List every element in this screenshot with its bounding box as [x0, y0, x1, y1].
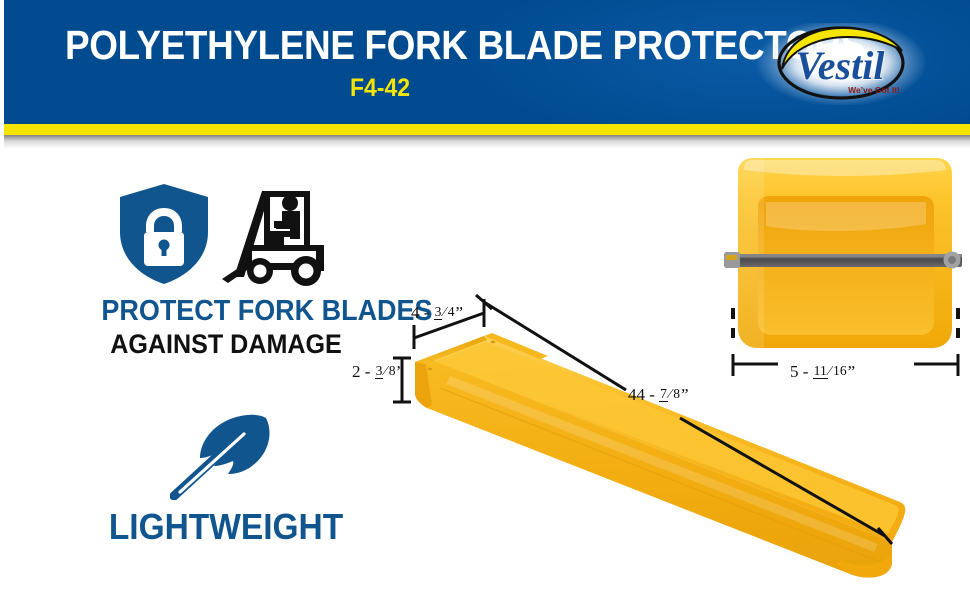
feather-icon-group — [92, 408, 360, 506]
feature-lightweight-label: LIGHTWEIGHT — [101, 506, 350, 548]
dimension-label-height: 2 - 3⁄8” — [352, 362, 404, 382]
dimension-label-width: 4 - 3⁄4” — [411, 303, 463, 323]
forklift-icon — [222, 187, 334, 289]
feature-protect-fork-blades: PROTECT FORK BLADES AGAINST DAMAGE — [92, 182, 360, 360]
feature-protect-line2: AGAINST DAMAGE — [101, 328, 350, 360]
protect-icon-group — [92, 182, 360, 294]
feature-lightweight: LIGHTWEIGHT — [92, 408, 360, 548]
title-block: POLYETHYLENE FORK BLADE PROTECTORS F4-42 — [30, 22, 730, 102]
vestil-logo-graphic: Vestil We’ve Got It! — [756, 23, 926, 105]
infographic-page: POLYETHYLENE FORK BLADE PROTECTORS F4-42… — [0, 0, 970, 600]
shield-lock-icon — [116, 182, 212, 286]
dimension-label-length: 44 - 7⁄8” — [628, 385, 689, 405]
logo-tagline: We’ve Got It! — [848, 85, 900, 95]
page-title: POLYETHYLENE FORK BLADE PROTECTORS — [65, 22, 695, 68]
header-accent-stripe — [4, 124, 970, 135]
vestil-logo: Vestil We’ve Got It! — [756, 23, 926, 105]
model-number: F4-42 — [58, 75, 702, 102]
fork-protector-end-view — [724, 158, 962, 348]
feather-icon — [170, 408, 282, 500]
logo-wordmark: Vestil — [796, 43, 886, 88]
product-diagram: 4 - 3⁄4” 2 - 3⁄8” 44 - 7⁄8” 5 - 11⁄16” — [380, 150, 970, 600]
header-drop-shadow — [4, 135, 970, 149]
product-diagram-graphic — [380, 150, 970, 600]
feature-protect-line1: PROTECT FORK BLADES — [101, 294, 350, 328]
dimension-label-end-width: 5 - 11⁄16” — [790, 362, 855, 382]
